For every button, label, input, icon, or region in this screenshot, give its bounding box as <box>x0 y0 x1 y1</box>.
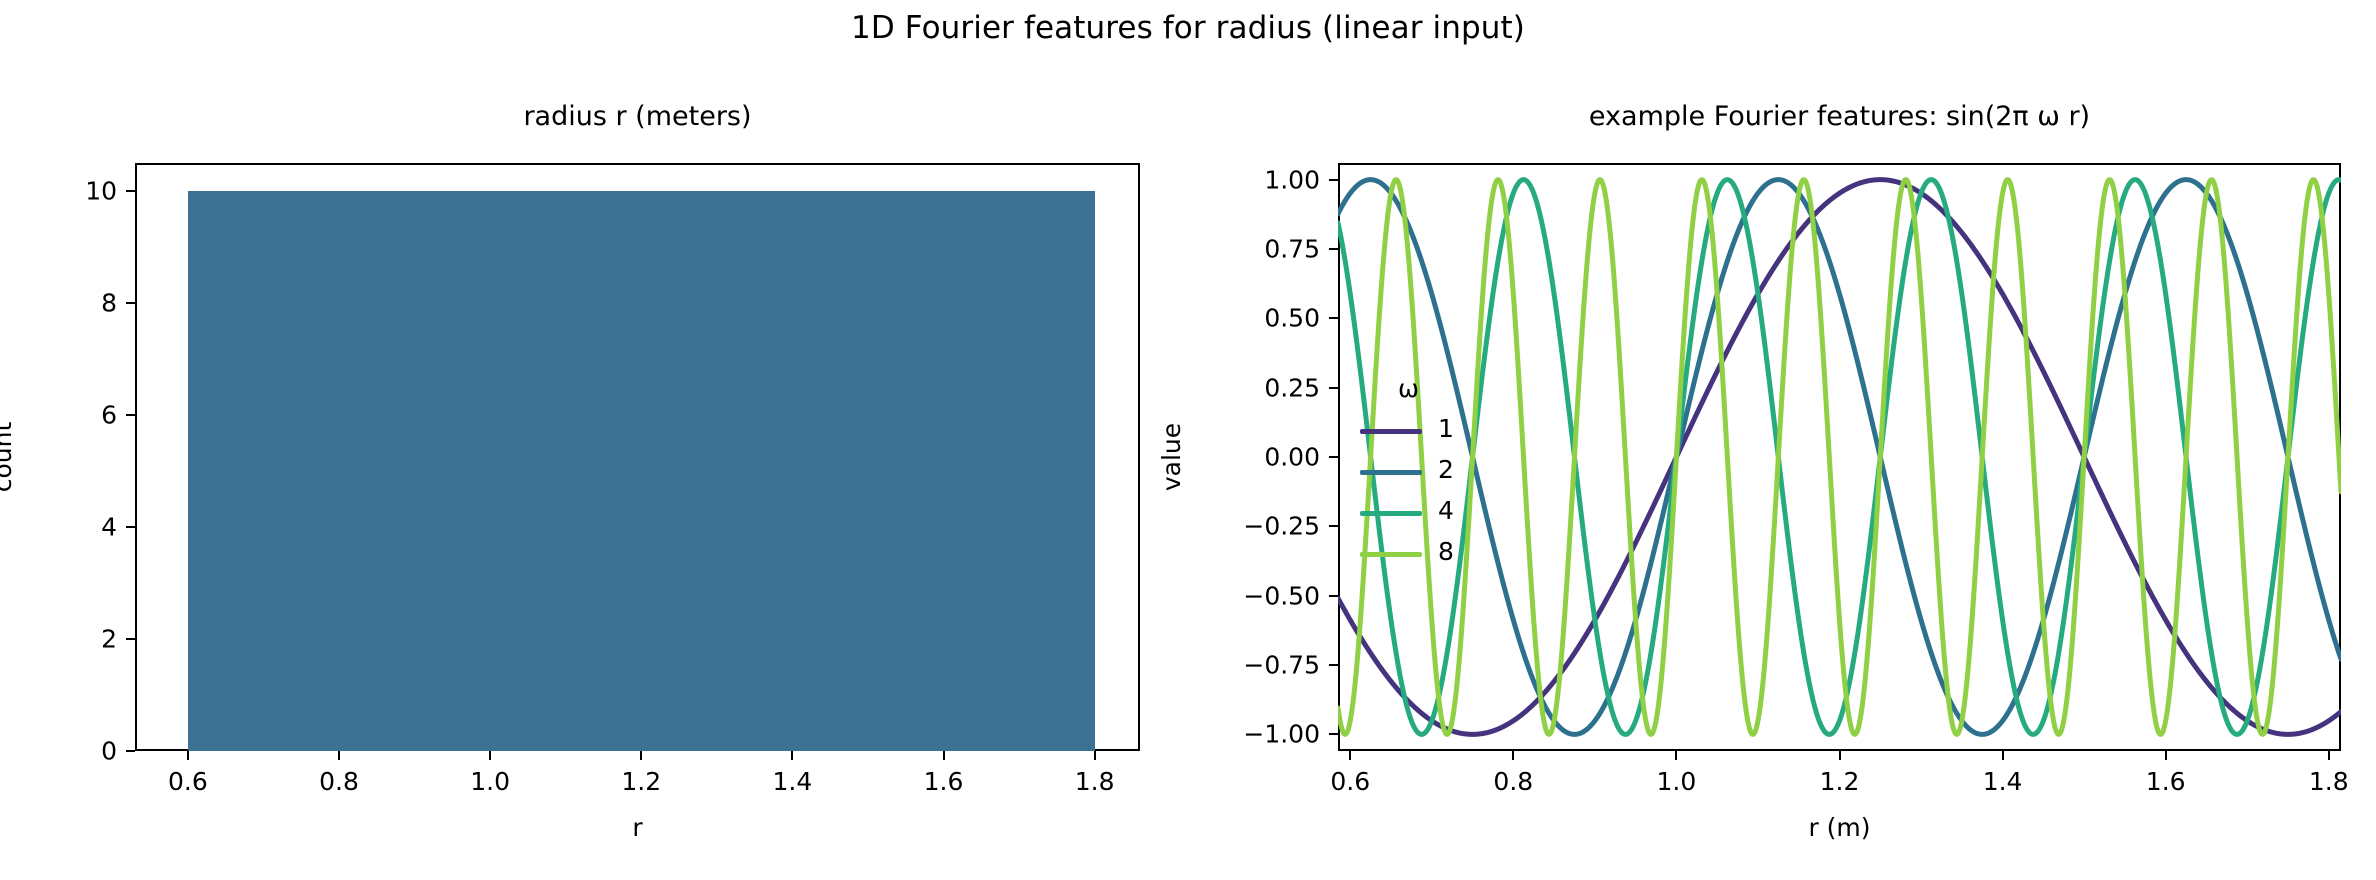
legend-title: ω <box>1398 374 1419 403</box>
legend-entry-label: 8 <box>1438 537 1454 566</box>
x-tick-mark <box>2328 751 2330 760</box>
x-tick-mark <box>2002 751 2004 760</box>
x-tick-label: 0.6 <box>1330 767 1370 796</box>
y-tick-label: −0.50 <box>1203 581 1320 610</box>
y-tick-label: 0.25 <box>1203 373 1320 402</box>
legend-color-swatch <box>1360 511 1422 516</box>
x-tick-label: 1.6 <box>2146 767 2186 796</box>
fourier-curves <box>0 0 2376 880</box>
legend-color-swatch <box>1360 552 1422 557</box>
x-tick-mark <box>1675 751 1677 760</box>
y-tick-mark <box>1329 733 1338 735</box>
x-tick-label: 1.2 <box>1820 767 1860 796</box>
y-tick-mark <box>1329 387 1338 389</box>
y-tick-mark <box>1329 456 1338 458</box>
legend-entry[interactable]: 1 <box>1360 414 1490 448</box>
y-tick-label: 0.50 <box>1203 304 1320 333</box>
x-tick-label: 1.0 <box>1657 767 1697 796</box>
legend-color-swatch <box>1360 470 1422 475</box>
x-tick-label: 1.8 <box>2309 767 2349 796</box>
right-y-axis-label: value <box>1157 423 1186 491</box>
legend-entry-label: 4 <box>1438 496 1454 525</box>
y-tick-label: 1.00 <box>1203 165 1320 194</box>
legend-entry[interactable]: 4 <box>1360 496 1490 530</box>
x-tick-mark <box>1349 751 1351 760</box>
legend-entry-label: 2 <box>1438 455 1454 484</box>
y-tick-label: −1.00 <box>1203 720 1320 749</box>
x-tick-label: 0.8 <box>1493 767 1533 796</box>
x-tick-mark <box>1512 751 1514 760</box>
right-x-axis-label: r (m) <box>1338 813 2341 842</box>
legend-entry-label: 1 <box>1438 414 1454 443</box>
y-tick-mark <box>1329 317 1338 319</box>
y-tick-mark <box>1329 248 1338 250</box>
legend-entry[interactable]: 8 <box>1360 537 1490 571</box>
y-tick-mark <box>1329 179 1338 181</box>
x-tick-label: 1.4 <box>1983 767 2023 796</box>
y-tick-mark <box>1329 595 1338 597</box>
y-tick-mark <box>1329 664 1338 666</box>
x-tick-mark <box>1839 751 1841 760</box>
figure-canvas: 1D Fourier features for radius (linear i… <box>0 0 2376 880</box>
y-tick-label: −0.75 <box>1203 651 1320 680</box>
legend-color-swatch <box>1360 429 1422 434</box>
y-tick-mark <box>1329 525 1338 527</box>
legend-entry[interactable]: 2 <box>1360 455 1490 489</box>
x-tick-mark <box>2165 751 2167 760</box>
y-tick-label: 0.00 <box>1203 443 1320 472</box>
y-tick-label: −0.25 <box>1203 512 1320 541</box>
y-tick-label: 0.75 <box>1203 234 1320 263</box>
